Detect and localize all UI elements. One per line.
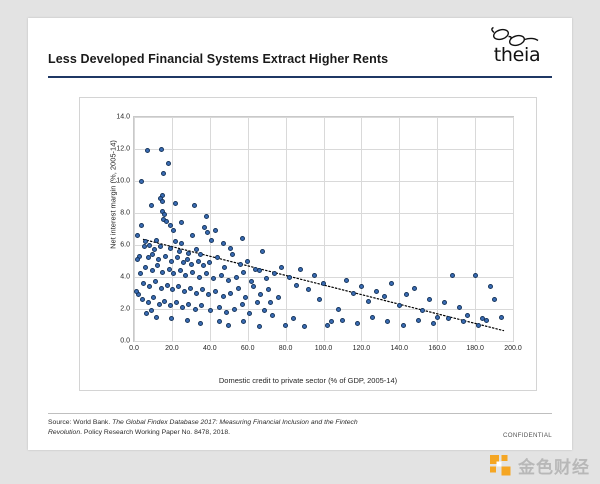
scatter-point bbox=[287, 275, 292, 280]
y-axis-tick-label: 14.0 bbox=[116, 114, 130, 121]
scatter-point bbox=[160, 270, 165, 275]
scatter-point bbox=[240, 236, 245, 241]
scatter-point bbox=[180, 305, 185, 310]
scatter-point bbox=[162, 299, 167, 304]
watermark-text: 金色财经 bbox=[518, 453, 590, 478]
scatter-point bbox=[291, 316, 296, 321]
scatter-point bbox=[159, 286, 164, 291]
scatter-point bbox=[344, 278, 349, 283]
trendline bbox=[134, 117, 513, 341]
page-title: Less Developed Financial Systems Extract… bbox=[48, 52, 388, 66]
y-axis-tick-label: 10.0 bbox=[116, 178, 130, 185]
confidential-label: CONFIDENTIAL bbox=[503, 432, 552, 439]
scatter-point bbox=[484, 318, 489, 323]
y-axis-tick-label: 12.0 bbox=[116, 146, 130, 153]
scatter-point bbox=[165, 283, 170, 288]
scatter-point bbox=[219, 273, 224, 278]
scatter-point bbox=[149, 203, 154, 208]
scatter-point bbox=[179, 220, 184, 225]
y-axis-tick-label: 0.0 bbox=[120, 338, 130, 345]
source-italic-a: The Global Findex Database 2017: Measuri… bbox=[112, 419, 251, 426]
scatter-plot-area: 0.020.040.060.080.0100.0120.0140.0160.01… bbox=[133, 116, 514, 342]
scatter-point bbox=[257, 268, 262, 273]
scatter-point bbox=[270, 313, 275, 318]
scatter-point bbox=[179, 241, 184, 246]
scatter-point bbox=[431, 321, 436, 326]
y-axis-title: Net interest margin (%, 2005-14) bbox=[109, 115, 118, 275]
scatter-point bbox=[234, 275, 239, 280]
x-axis-tick-label: 160.0 bbox=[428, 345, 446, 352]
scatter-point bbox=[340, 318, 345, 323]
scatter-point bbox=[183, 273, 188, 278]
slide-header: Less Developed Financial Systems Extract… bbox=[48, 52, 552, 82]
scatter-point bbox=[196, 259, 201, 264]
scatter-point bbox=[168, 246, 173, 251]
scatter-point bbox=[166, 161, 171, 166]
scatter-point bbox=[268, 300, 273, 305]
scatter-point bbox=[336, 307, 341, 312]
scatter-point bbox=[238, 262, 243, 267]
x-axis-tick-label: 100.0 bbox=[315, 345, 333, 352]
scatter-point bbox=[143, 265, 148, 270]
scatter-point bbox=[226, 323, 231, 328]
scatter-point bbox=[255, 300, 260, 305]
scatter-point bbox=[169, 259, 174, 264]
scatter-point bbox=[192, 203, 197, 208]
y-axis-tick-label: 4.0 bbox=[120, 274, 130, 281]
scatter-point bbox=[149, 308, 154, 313]
scatter-point bbox=[150, 268, 155, 273]
scatter-point bbox=[435, 315, 440, 320]
gridline-horizontal bbox=[134, 341, 513, 342]
scatter-point bbox=[401, 323, 406, 328]
scatter-point bbox=[476, 323, 481, 328]
scatter-point bbox=[427, 297, 432, 302]
scatter-point bbox=[298, 267, 303, 272]
source-line3: Paper No. 8478, 2018. bbox=[162, 429, 230, 436]
scatter-point bbox=[283, 323, 288, 328]
scatter-point bbox=[412, 286, 417, 291]
scatter-point bbox=[276, 295, 281, 300]
scatter-point bbox=[488, 284, 493, 289]
x-axis-title: Domestic credit to private sector (% of … bbox=[80, 376, 536, 385]
x-axis-tick-label: 200.0 bbox=[504, 345, 522, 352]
scatter-point bbox=[257, 324, 262, 329]
x-axis-tick-label: 80.0 bbox=[279, 345, 293, 352]
y-axis-tick-label: 2.0 bbox=[120, 306, 130, 313]
scatter-point bbox=[197, 275, 202, 280]
scatter-point bbox=[228, 291, 233, 296]
x-axis-tick-label: 180.0 bbox=[466, 345, 484, 352]
scatter-point bbox=[209, 238, 214, 243]
x-axis-tick-label: 40.0 bbox=[203, 345, 217, 352]
scatter-point bbox=[139, 179, 144, 184]
scatter-point bbox=[450, 273, 455, 278]
scatter-point bbox=[204, 214, 209, 219]
scatter-point bbox=[217, 305, 222, 310]
scatter-point bbox=[240, 302, 245, 307]
y-axis-tick-label: 6.0 bbox=[120, 242, 130, 249]
x-axis-tick-label: 0.0 bbox=[129, 345, 139, 352]
scatter-point bbox=[382, 294, 387, 299]
scatter-point bbox=[161, 171, 166, 176]
scatter-point bbox=[154, 315, 159, 320]
theia-logo: theia bbox=[480, 26, 554, 76]
scatter-point bbox=[147, 243, 152, 248]
scatter-point bbox=[194, 291, 199, 296]
scatter-point bbox=[232, 307, 237, 312]
scatter-point bbox=[141, 281, 146, 286]
scatter-point bbox=[185, 257, 190, 262]
scatter-point bbox=[142, 244, 147, 249]
title-underline bbox=[48, 76, 552, 78]
scatter-point bbox=[312, 273, 317, 278]
scatter-point bbox=[146, 300, 151, 305]
scatter-point bbox=[221, 294, 226, 299]
scatter-point bbox=[251, 284, 256, 289]
scatter-point bbox=[499, 315, 504, 320]
scatter-point bbox=[245, 259, 250, 264]
scatter-point bbox=[228, 246, 233, 251]
scatter-point bbox=[374, 289, 379, 294]
source-suffix: . Policy Research Working bbox=[80, 429, 160, 436]
scatter-point bbox=[140, 297, 145, 302]
scatter-point bbox=[177, 249, 182, 254]
scatter-point bbox=[190, 270, 195, 275]
scatter-point bbox=[213, 289, 218, 294]
scatter-point bbox=[154, 238, 159, 243]
scatter-point bbox=[156, 257, 161, 262]
scatter-point bbox=[185, 318, 190, 323]
scatter-point bbox=[182, 289, 187, 294]
footer-divider bbox=[48, 413, 552, 414]
scatter-point bbox=[201, 263, 206, 268]
chart-container: Net interest margin (%, 2005-14) Domesti… bbox=[79, 97, 537, 391]
scatter-point bbox=[198, 321, 203, 326]
scatter-point bbox=[351, 291, 356, 296]
scatter-point bbox=[321, 281, 326, 286]
y-axis-tick-label: 8.0 bbox=[120, 210, 130, 217]
logo-wordmark: theia bbox=[480, 44, 554, 66]
scatter-point bbox=[359, 284, 364, 289]
scatter-point bbox=[198, 252, 203, 257]
x-axis-tick-label: 140.0 bbox=[391, 345, 409, 352]
presentation-slide: Less Developed Financial Systems Extract… bbox=[28, 18, 572, 450]
x-axis-tick-label: 20.0 bbox=[165, 345, 179, 352]
scatter-point bbox=[355, 321, 360, 326]
watermark: 金色财经 bbox=[490, 453, 590, 478]
scatter-point bbox=[465, 313, 470, 318]
scatter-point bbox=[226, 278, 231, 283]
scatter-point bbox=[473, 273, 478, 278]
scatter-point bbox=[492, 297, 497, 302]
scatter-point bbox=[145, 148, 150, 153]
scatter-point bbox=[193, 307, 198, 312]
scatter-point bbox=[147, 284, 152, 289]
scatter-point bbox=[325, 323, 330, 328]
scatter-point bbox=[204, 271, 209, 276]
watermark-logo-icon bbox=[490, 455, 512, 477]
source-prefix: Source: World Bank. bbox=[48, 419, 112, 426]
scatter-point bbox=[420, 308, 425, 313]
source-note: Source: World Bank. The Global Findex Da… bbox=[48, 418, 378, 438]
scatter-point bbox=[163, 254, 168, 259]
scatter-point bbox=[178, 268, 183, 273]
scatter-point bbox=[416, 318, 421, 323]
scatter-point bbox=[236, 286, 241, 291]
scatter-point bbox=[370, 315, 375, 320]
scatter-point bbox=[159, 147, 164, 152]
x-axis-tick-label: 120.0 bbox=[353, 345, 371, 352]
gridline-vertical bbox=[513, 117, 514, 341]
screenshot-root: Less Developed Financial Systems Extract… bbox=[0, 0, 600, 484]
scatter-point bbox=[221, 241, 226, 246]
x-axis-tick-label: 60.0 bbox=[241, 345, 255, 352]
